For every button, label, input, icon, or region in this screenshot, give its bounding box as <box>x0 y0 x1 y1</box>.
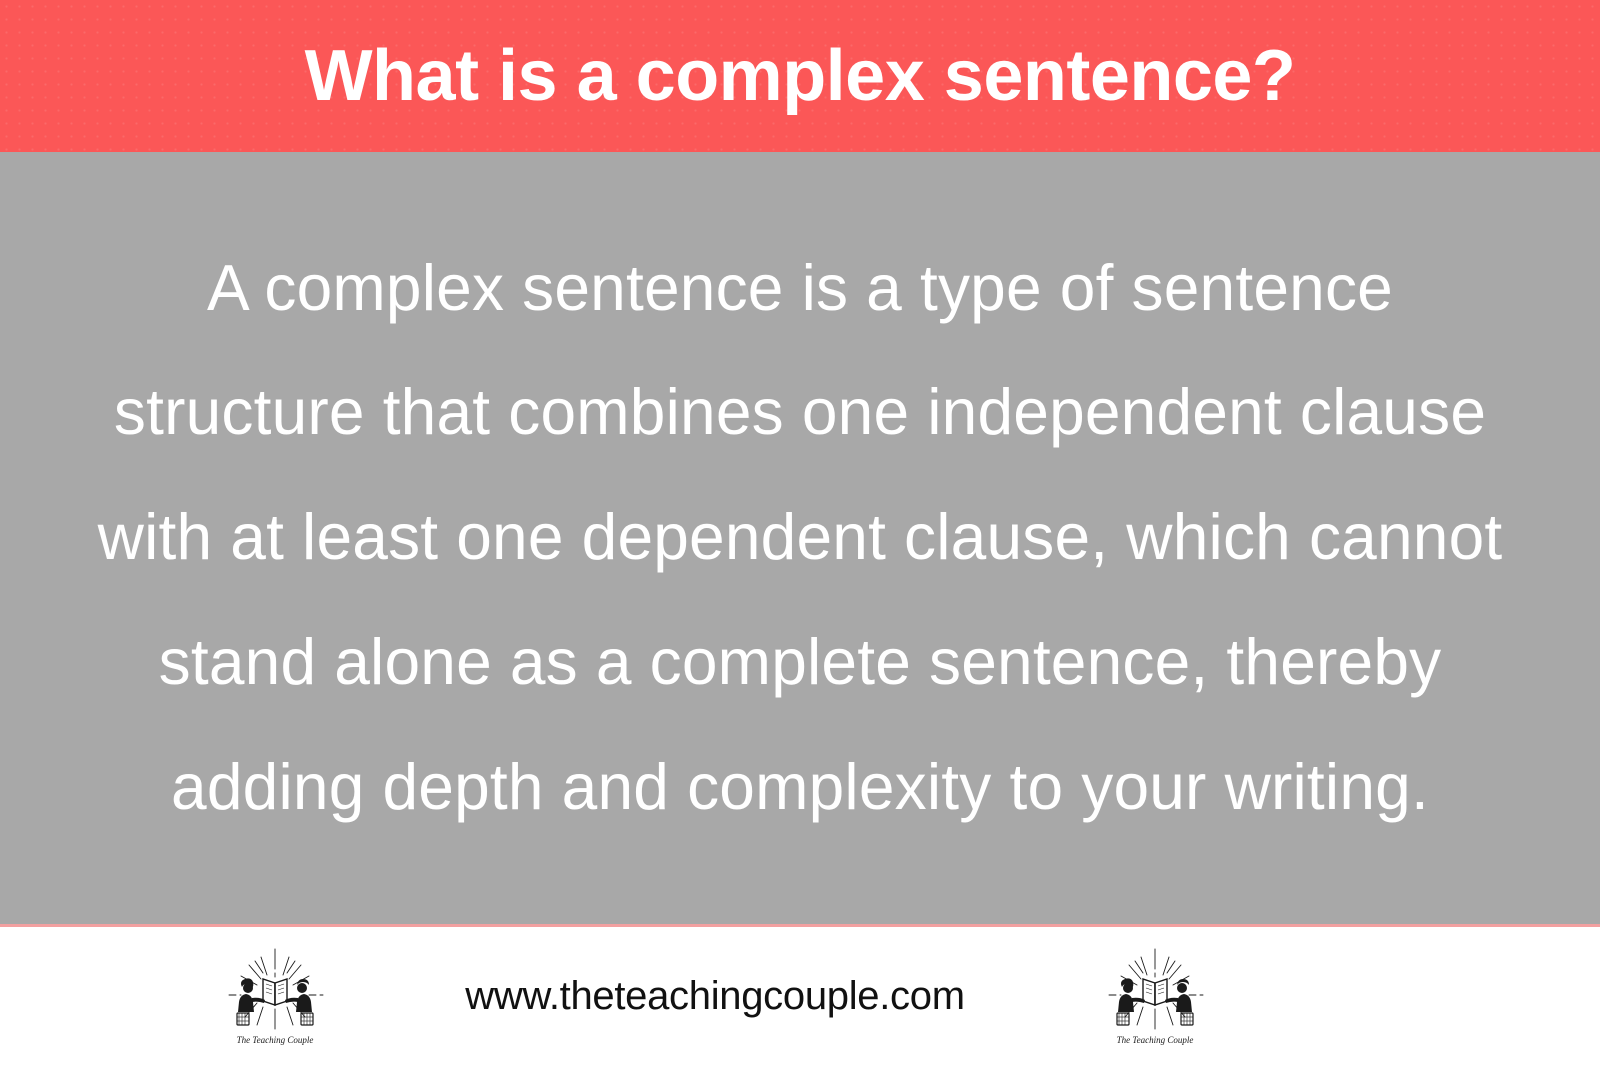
person-right-icon <box>1165 979 1193 1025</box>
brand-logo-left-caption: The Teaching Couple <box>237 1035 314 1045</box>
page-title: What is a complex sentence? <box>305 40 1296 112</box>
brand-logo-right-caption: The Teaching Couple <box>1117 1035 1194 1045</box>
teaching-couple-logo-icon: The Teaching Couple <box>1095 943 1215 1051</box>
person-right-icon <box>285 979 313 1025</box>
definition-panel: A complex sentence is a type of sentence… <box>0 152 1600 927</box>
brand-logo-left: The Teaching Couple <box>215 943 335 1051</box>
book-icon <box>1143 979 1167 1005</box>
footer-bar: The Teaching Couple www.theteachingcoupl… <box>0 927 1600 1066</box>
header-band: What is a complex sentence? <box>0 0 1600 152</box>
brand-logo-right: The Teaching Couple <box>1095 943 1215 1051</box>
book-icon <box>263 979 287 1005</box>
infographic-card: What is a complex sentence? A complex se… <box>0 0 1600 1066</box>
person-left-icon <box>237 978 265 1025</box>
definition-text: A complex sentence is a type of sentence… <box>96 226 1505 850</box>
person-left-icon <box>1117 978 1145 1025</box>
website-url[interactable]: www.theteachingcouple.com <box>335 974 1095 1019</box>
teaching-couple-logo-icon: The Teaching Couple <box>215 943 335 1051</box>
